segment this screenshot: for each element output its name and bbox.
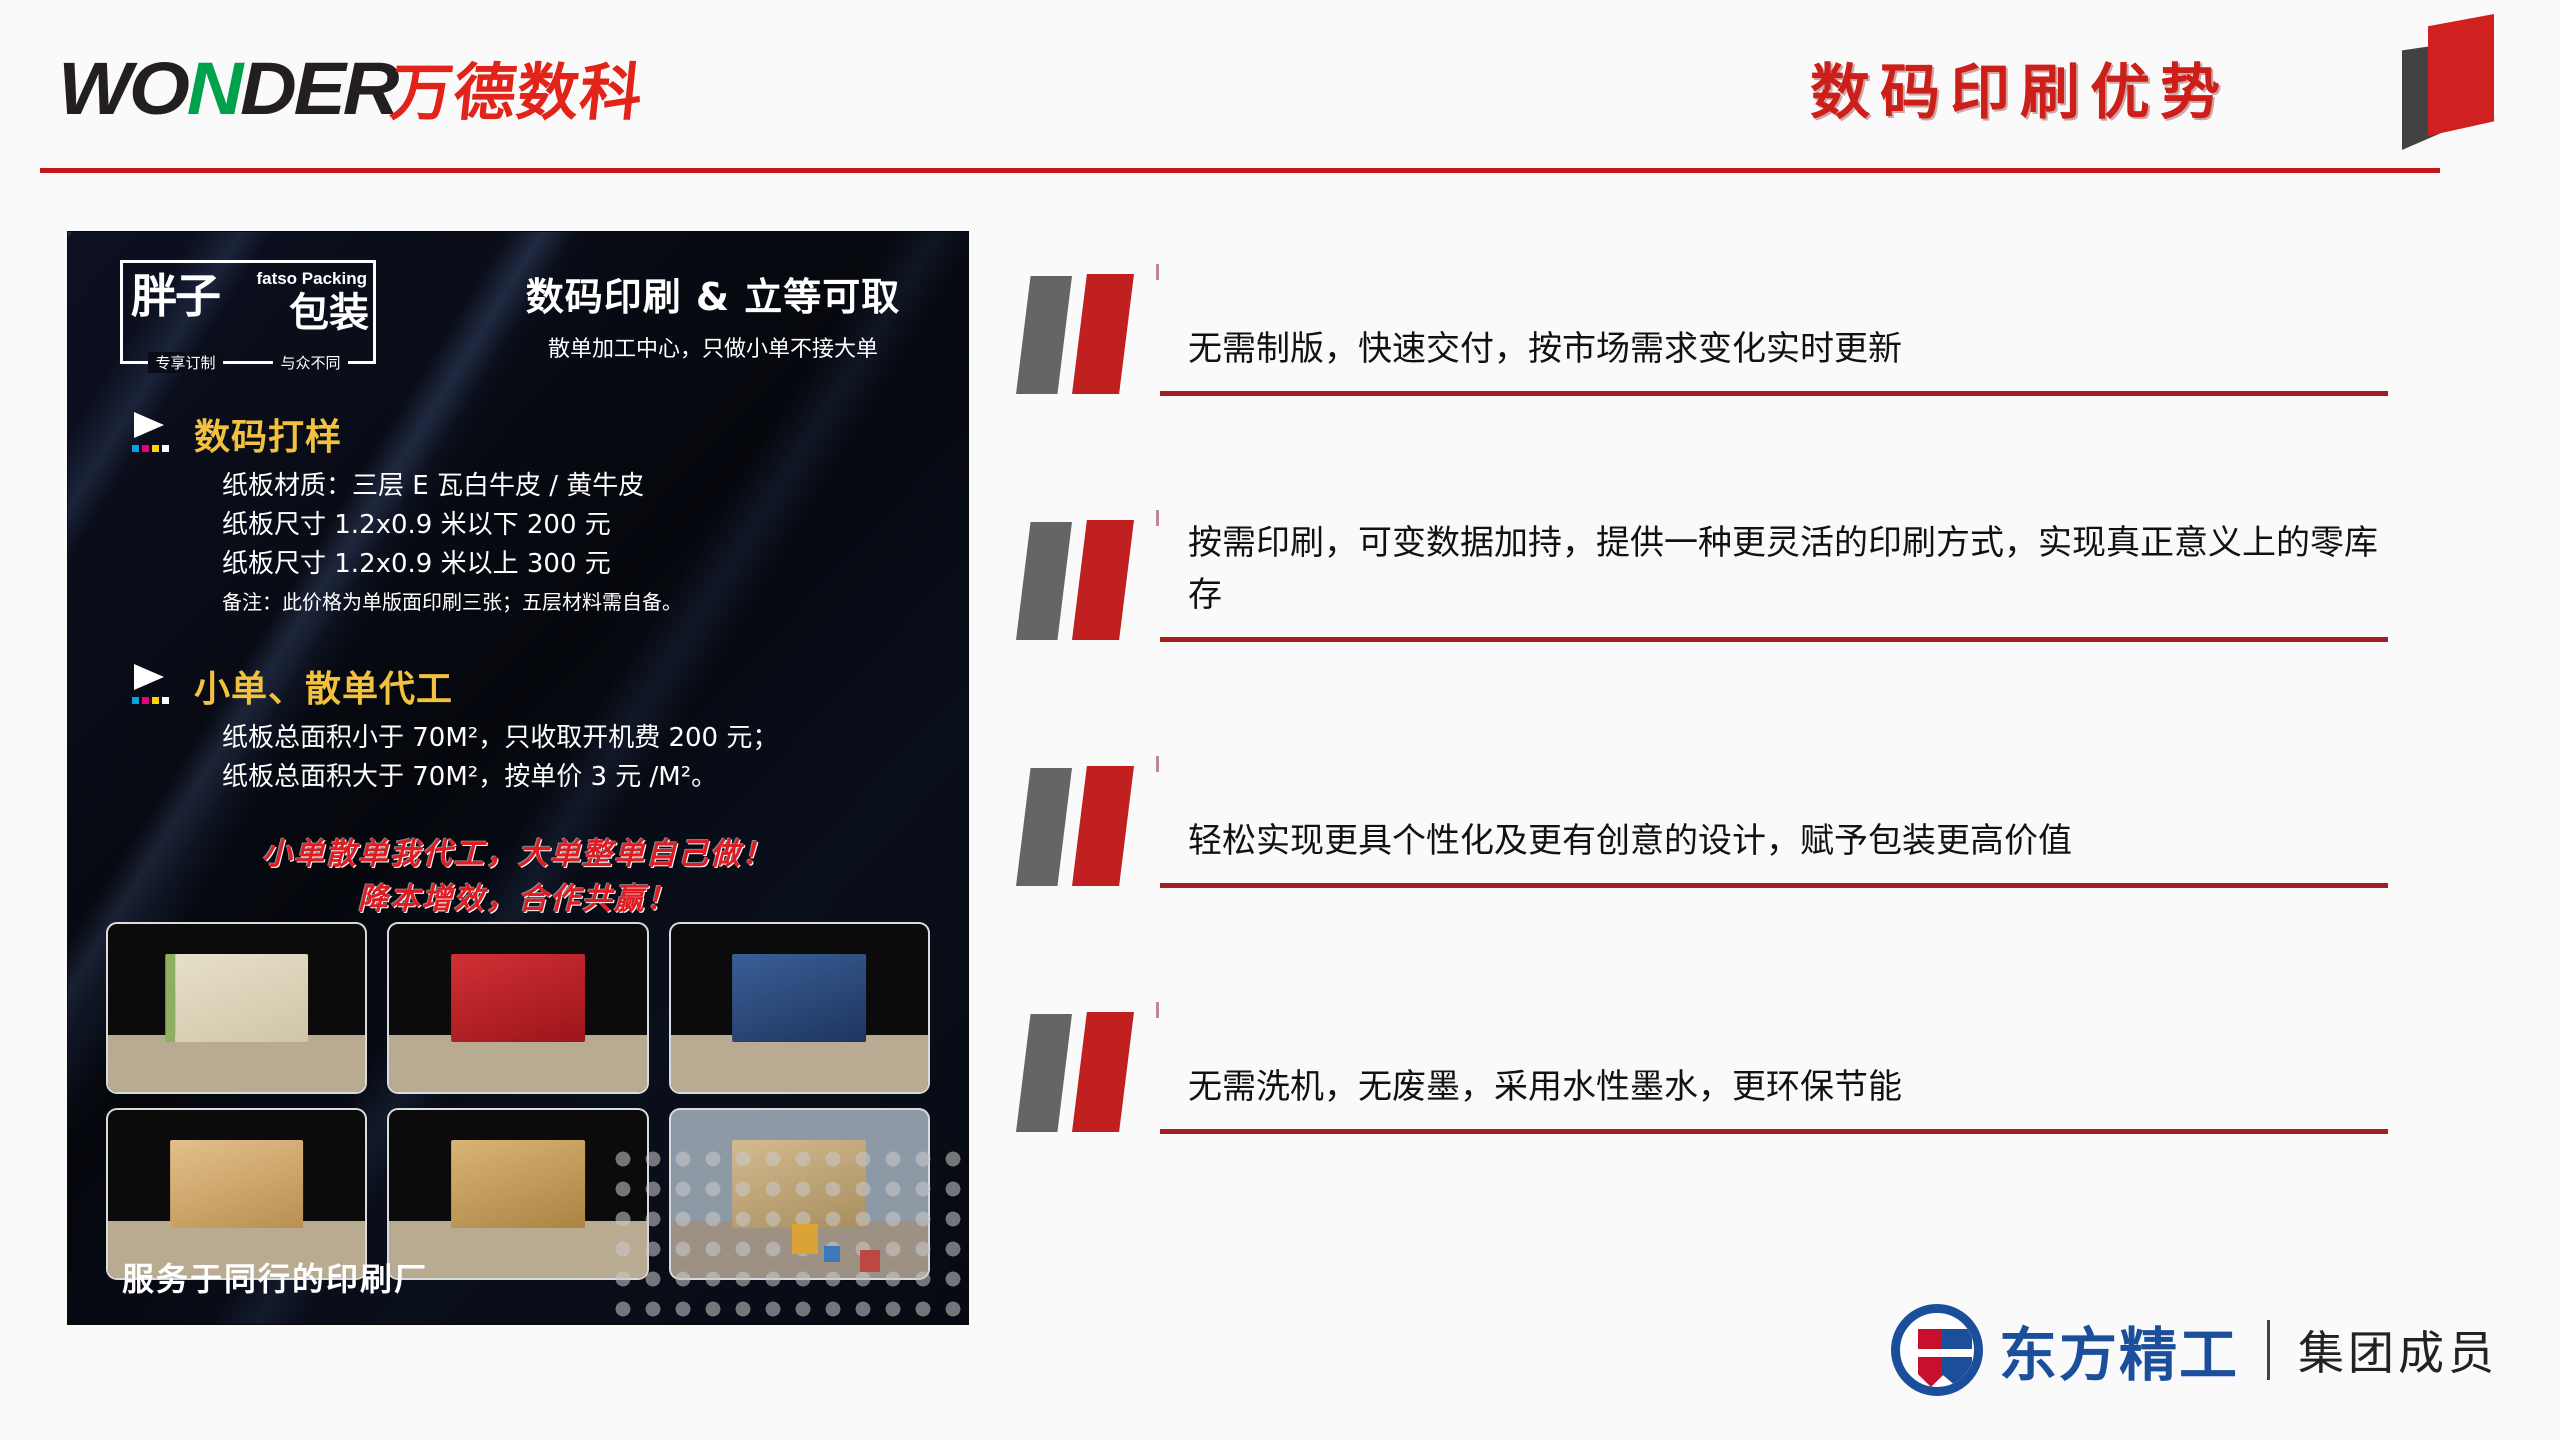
poster-image: 胖子 fatso Packing 包装 专享订制 与众不同 数码印刷 & 立等可… — [68, 232, 968, 1324]
slide-root: WONDER 万德数科 数码印刷优势 胖子 fatso Packing 包装 专… — [0, 0, 2560, 1440]
footer-membership-label: 集团成员 — [2298, 1317, 2498, 1383]
product-photo — [671, 924, 928, 1092]
poster-section-line: 纸板总面积大于 70M²，按单价 3 元 /M²。 — [222, 759, 940, 796]
brand-logo-chinese: 万德数科 — [388, 62, 647, 124]
advantage-underline — [1160, 391, 2388, 396]
brand-logo: WONDER 万德数科 — [58, 52, 643, 124]
poster-section-proofing: 数码打样 纸板材质：三层 E 瓦白牛皮 / 黄牛皮 纸板尺寸 1.2x0.9 米… — [130, 408, 940, 618]
poster-logo: 胖子 fatso Packing 包装 专享订制 与众不同 — [120, 260, 376, 364]
page-title: 数码印刷优势 — [1810, 44, 2230, 131]
advantage-underline — [1160, 1129, 2388, 1134]
poster-slogan-line-1: 小单散单我代工，大单整单自己做！ — [68, 832, 968, 877]
advantage-text: 无需洗机，无废墨，采用水性墨水，更环保节能 — [1188, 1061, 2378, 1114]
brand-logo-latin-part-1: WO — [58, 47, 187, 130]
bullet-marker-icon — [1010, 766, 1170, 886]
poster-logo-bao: 包装 — [289, 293, 369, 333]
poster-footer-text: 服务于同行的印刷厂 — [122, 1254, 428, 1300]
poster-section-note: 备注：此价格为单版面印刷三张；五层材料需自备。 — [222, 588, 940, 616]
brand-logo-latin-part-3: DER — [240, 47, 396, 130]
product-photo — [389, 924, 646, 1092]
advantage-underline — [1160, 637, 2388, 642]
product-photo — [108, 1110, 365, 1278]
poster-slogan-line-2: 降本增效，合作共赢！ — [68, 877, 968, 922]
advantage-underline — [1160, 883, 2388, 888]
corner-mark-red-shape — [2428, 14, 2494, 136]
poster-section-title: 小单、散单代工 — [194, 660, 940, 712]
advantage-text: 无需制版，快速交付，按市场需求变化实时更新 — [1188, 323, 2378, 376]
poster-logo-tagline-right: 与众不同 — [273, 352, 347, 373]
poster-section-line: 纸板总面积小于 70M²，只收取开机费 200 元； — [222, 720, 940, 757]
footer-group-logo: 东方精工 集团成员 — [1891, 1304, 2498, 1396]
advantage-item: 无需制版，快速交付，按市场需求变化实时更新 — [1010, 268, 2390, 418]
poster-section-line: 纸板尺寸 1.2x0.9 米以下 200 元 — [222, 507, 940, 544]
header-divider — [40, 168, 2440, 173]
poster-section-line: 纸板材质：三层 E 瓦白牛皮 / 黄牛皮 — [222, 468, 940, 505]
footer-company-name: 东方精工 — [1999, 1308, 2239, 1392]
poster-section-title: 数码打样 — [194, 408, 940, 460]
bullet-marker-icon — [1010, 1012, 1170, 1132]
chevron-arrow-icon — [130, 664, 182, 706]
poster-headline: 数码印刷 & 立等可取 — [498, 266, 928, 321]
poster-logo-taglines: 专享订制 与众不同 — [123, 352, 373, 373]
poster-dot-pattern — [608, 1144, 968, 1324]
poster-section-line: 纸板尺寸 1.2x0.9 米以上 300 元 — [222, 546, 940, 583]
poster-slogan: 小单散单我代工，大单整单自己做！ 降本增效，合作共赢！ — [68, 832, 968, 922]
poster-headline-block: 数码印刷 & 立等可取 散单加工中心，只做小单不接大单 — [498, 266, 928, 363]
brand-logo-latin: WONDER — [58, 54, 396, 124]
advantages-list: 无需制版，快速交付，按市场需求变化实时更新 按需印刷，可变数据加持，提供一种更灵… — [1010, 268, 2390, 1252]
poster-subhead: 散单加工中心，只做小单不接大单 — [498, 331, 928, 363]
poster-logo-tagline-left: 专享订制 — [148, 352, 222, 373]
corner-mark-icon — [2388, 10, 2498, 160]
product-photo — [108, 924, 365, 1092]
bullet-marker-icon — [1010, 274, 1170, 394]
bullet-marker-icon — [1010, 520, 1170, 640]
poster-section-oem: 小单、散单代工 纸板总面积小于 70M²，只收取开机费 200 元； 纸板总面积… — [130, 660, 940, 798]
advantage-item: 轻松实现更具个性化及更有创意的设计，赋予包装更高价值 — [1010, 760, 2390, 910]
advantage-item: 无需洗机，无废墨，采用水性墨水，更环保节能 — [1010, 1006, 2390, 1156]
chevron-arrow-icon — [130, 412, 182, 454]
advantage-text: 按需印刷，可变数据加持，提供一种更灵活的印刷方式，实现真正意义上的零库存 — [1188, 517, 2378, 622]
advantage-item: 按需印刷，可变数据加持，提供一种更灵活的印刷方式，实现真正意义上的零库存 — [1010, 514, 2390, 664]
footer-separator — [2267, 1320, 2270, 1380]
poster-logo-big-text: 胖子 — [131, 273, 219, 319]
advantage-text: 轻松实现更具个性化及更有创意的设计，赋予包装更高价值 — [1188, 815, 2378, 868]
dongfang-emblem-icon — [1891, 1304, 1983, 1396]
brand-logo-latin-part-2: N — [187, 47, 240, 130]
poster-logo-english: fatso Packing — [256, 269, 367, 289]
